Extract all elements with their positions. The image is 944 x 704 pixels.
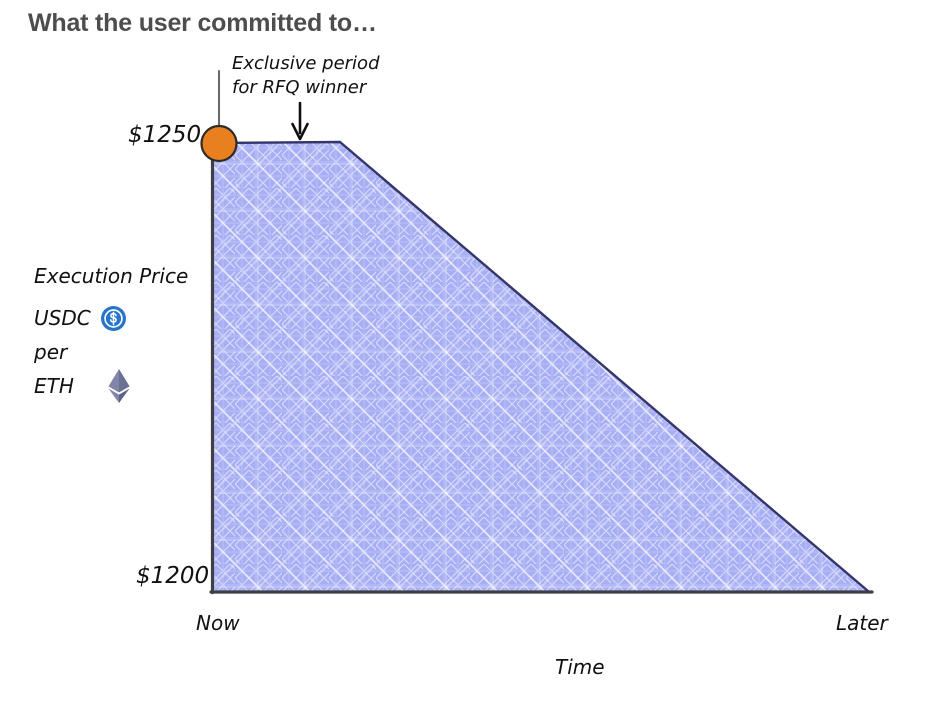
decay-area	[214, 142, 867, 591]
usdc-label: USDC	[34, 308, 91, 328]
y-axis-unit-separator-row: per	[34, 336, 209, 368]
x-axis-title: Time	[555, 655, 605, 679]
x-tick-label-later: Later	[836, 611, 888, 635]
eth-label: ETH	[34, 376, 74, 396]
annotation-line-1: Exclusive period	[232, 52, 380, 76]
annotation-line-2: for RFQ winner	[232, 76, 380, 100]
per-label: per	[34, 342, 67, 362]
y-tick-label-low: $1200	[136, 563, 209, 589]
usdc-coin-icon	[101, 306, 126, 331]
y-tick-label-high: $1250	[128, 122, 201, 148]
y-axis-unit-denominator-row: ETH	[34, 370, 209, 402]
arrow-down-icon	[293, 103, 308, 139]
y-axis-title: Execution Price	[34, 264, 209, 288]
start-price-marker	[202, 126, 237, 161]
x-tick-label-now: Now	[196, 611, 240, 635]
exclusive-period-annotation: Exclusive period for RFQ winner	[232, 52, 380, 101]
slide-canvas: What the user committed to…	[0, 0, 944, 704]
ethereum-logo-icon	[84, 369, 132, 403]
y-axis-unit-numerator-row: USDC	[34, 302, 209, 334]
y-axis-title-block: Execution Price USDC per ETH	[34, 264, 209, 404]
